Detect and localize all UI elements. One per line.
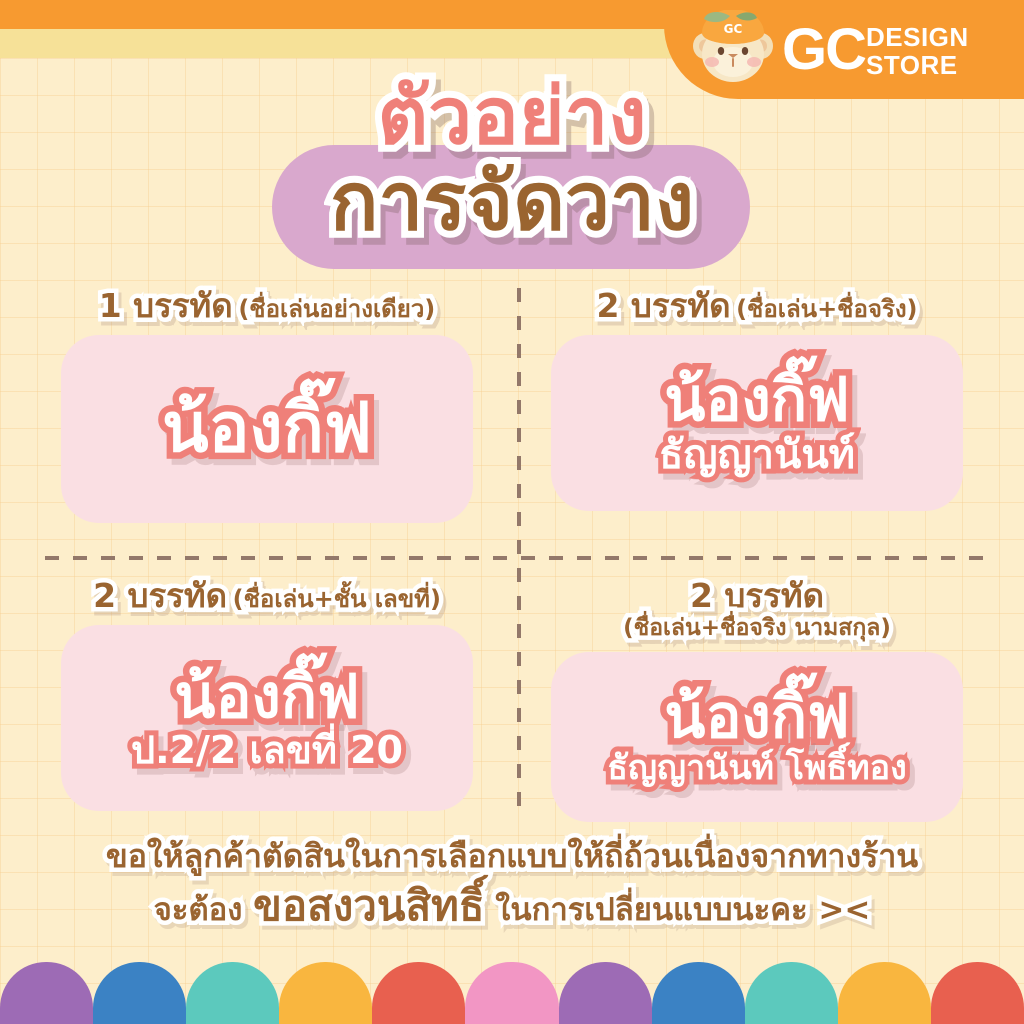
example-4-name-main: น้องกิ๊ฟ bbox=[664, 686, 849, 749]
arch-shape-8 bbox=[652, 962, 745, 1024]
example-4-preview-card: น้องกิ๊ฟ ธัญญานันท์ โพธิ์ทอง bbox=[551, 652, 963, 822]
example-2-heading-note: (ชื่อเล่น+ชื่อจริง) bbox=[736, 295, 917, 323]
layout-example-3: 2 บรรทัด (ชื่อเล่น+ชั้น เลขที่) น้องกิ๊ฟ… bbox=[32, 578, 502, 811]
example-4-name-sub: ธัญญานันท์ โพธิ์ทอง bbox=[607, 751, 906, 787]
example-1-heading: 1 บรรทัด (ชื่อเล่นอย่างเดียว) bbox=[32, 288, 502, 325]
brand-tagline: DESIGN STORE bbox=[866, 24, 969, 78]
arch-shape-5 bbox=[372, 962, 465, 1024]
example-4-heading: 2 บรรทัด (ชื่อเล่น+ชื่อจริง นามสกุล) bbox=[522, 578, 992, 642]
brand-tagline-design: DESIGN bbox=[866, 24, 969, 50]
example-4-heading-note: (ชื่อเล่น+ชื่อจริง นามสกุล) bbox=[522, 616, 992, 642]
example-1-heading-note: (ชื่อเล่นอย่างเดียว) bbox=[238, 295, 435, 323]
example-3-preview-card: น้องกิ๊ฟ ป.2/2 เลขที่ 20 bbox=[61, 625, 473, 811]
page-title-line1: ตัวอย่าง bbox=[0, 78, 1024, 156]
footer-line-2: จะต้อง ขอสงวนสิทธิ์ ในการเปลี่ยนแบบนะคะ … bbox=[0, 880, 1024, 933]
layout-example-2: 2 บรรทัด (ชื่อเล่น+ชื่อจริง) น้องกิ๊ฟ ธั… bbox=[522, 288, 992, 511]
arch-shape-4 bbox=[279, 962, 372, 1024]
brand-name: GC bbox=[782, 21, 865, 79]
arch-shape-7 bbox=[559, 962, 652, 1024]
svg-text:GC: GC bbox=[724, 22, 743, 36]
page-title-line2: การจัดวาง bbox=[0, 162, 1024, 242]
footer-line2-before: จะต้อง bbox=[154, 892, 243, 928]
example-2-name-main: น้องกิ๊ฟ bbox=[664, 369, 849, 432]
example-1-name-main: น้องกิ๊ฟ bbox=[162, 393, 372, 464]
example-3-name-sub: ป.2/2 เลขที่ 20 bbox=[131, 731, 403, 771]
vertical-dashed-divider bbox=[517, 288, 521, 808]
arch-shape-2 bbox=[93, 962, 186, 1024]
brand-tagline-store: STORE bbox=[866, 52, 969, 78]
example-2-heading-main: 2 บรรทัด bbox=[596, 286, 730, 325]
footer-line2-after: ในการเปลี่ยนแบบนะคะ >< bbox=[495, 892, 870, 928]
layout-example-4: 2 บรรทัด (ชื่อเล่น+ชื่อจริง นามสกุล) น้อ… bbox=[522, 578, 992, 822]
arch-shape-6 bbox=[465, 962, 558, 1024]
arch-shape-9 bbox=[745, 962, 838, 1024]
example-2-name-sub: ธัญญานันท์ bbox=[659, 434, 855, 476]
example-2-preview-card: น้องกิ๊ฟ ธัญญานันท์ bbox=[551, 335, 963, 511]
example-3-heading-main: 2 บรรทัด bbox=[93, 576, 227, 615]
arch-shape-11 bbox=[931, 962, 1024, 1024]
poster-canvas: GC GC DESIGN STORE ตัวอย่าง การจัดวาง 1 … bbox=[0, 0, 1024, 1024]
example-1-heading-main: 1 บรรทัด bbox=[99, 286, 233, 325]
footer-line-1: ขอให้ลูกค้าตัดสินในการเลือกแบบให้ถี่ถ้วน… bbox=[0, 836, 1024, 876]
bottom-arch-border bbox=[0, 962, 1024, 1024]
arch-shape-1 bbox=[0, 962, 93, 1024]
arch-shape-3 bbox=[186, 962, 279, 1024]
example-3-name-main: น้องกิ๊ฟ bbox=[174, 666, 359, 729]
layout-example-1: 1 บรรทัด (ชื่อเล่นอย่างเดียว) น้องกิ๊ฟ bbox=[32, 288, 502, 523]
example-1-preview-card: น้องกิ๊ฟ bbox=[61, 335, 473, 523]
example-2-heading: 2 บรรทัด (ชื่อเล่น+ชื่อจริง) bbox=[522, 288, 992, 325]
footer-note: ขอให้ลูกค้าตัดสินในการเลือกแบบให้ถี่ถ้วน… bbox=[0, 836, 1024, 933]
page-title: ตัวอย่าง การจัดวาง bbox=[0, 78, 1024, 242]
example-4-heading-main: 2 บรรทัด bbox=[690, 576, 824, 615]
example-3-heading: 2 บรรทัด (ชื่อเล่น+ชั้น เลขที่) bbox=[32, 578, 502, 615]
arch-shape-10 bbox=[838, 962, 931, 1024]
footer-line2-emphasis: ขอสงวนสิทธิ์ bbox=[253, 881, 484, 930]
horizontal-dashed-divider bbox=[45, 556, 985, 560]
example-3-heading-note: (ชื่อเล่น+ชั้น เลขที่) bbox=[233, 585, 441, 613]
